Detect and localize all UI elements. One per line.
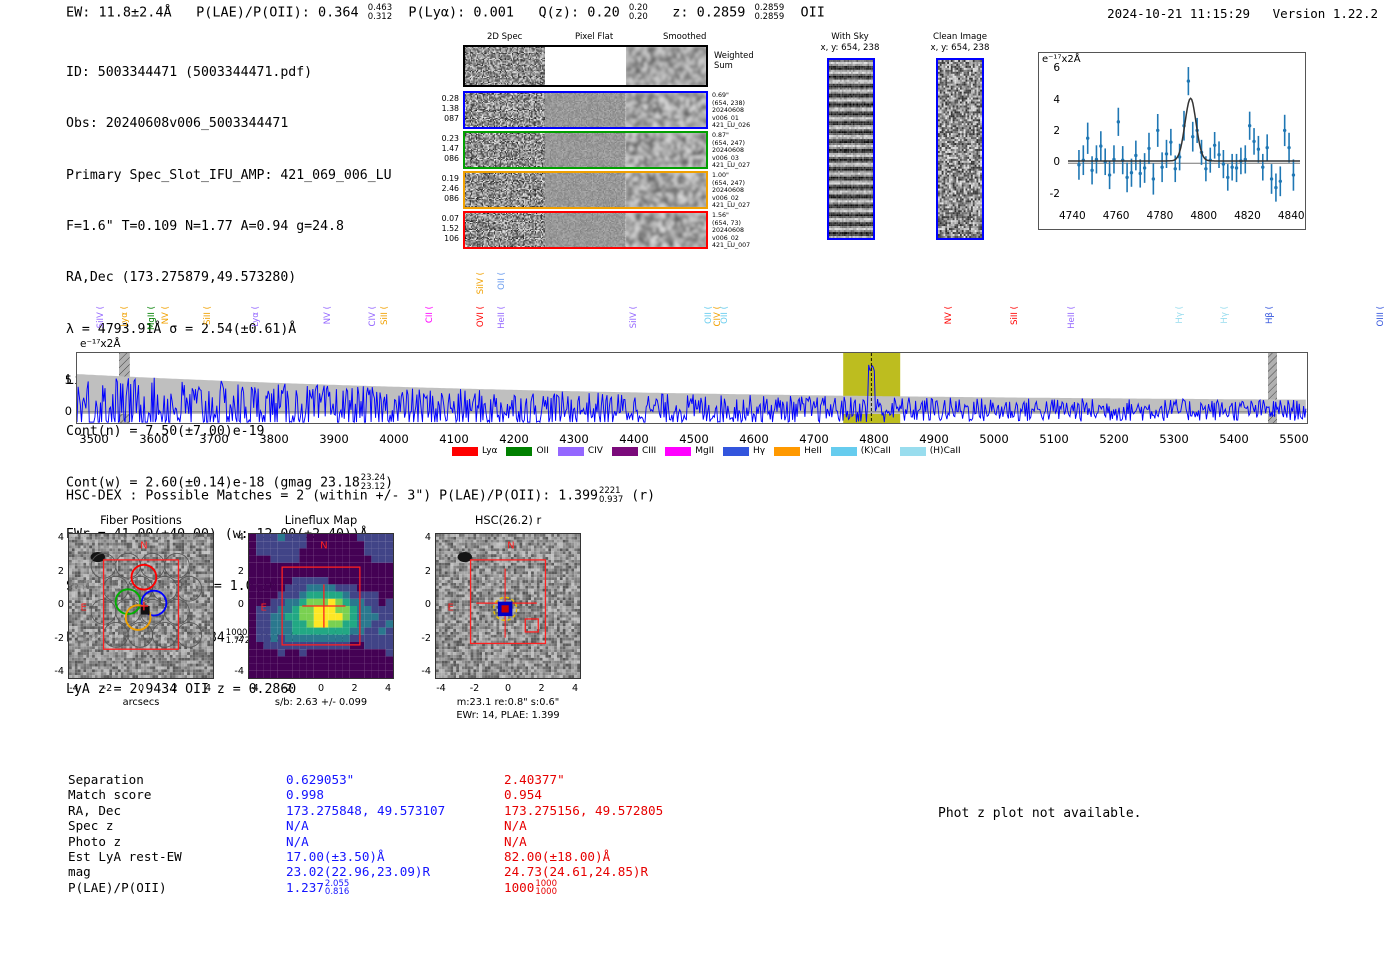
header-plya: P(Lyα): 0.001 [408,5,514,21]
cutout-caption2: EWr: 14, PLAE: 1.399 [403,710,613,721]
cutout-x-tick: -2 [94,683,122,694]
row-label: Est LyA rest-EW [68,849,286,864]
info-primary-spec: Primary Spec_Slot_IFU_AMP: 421_069_006_L… [66,167,393,184]
main-x-tick: 3700 [186,432,242,446]
emission-line-label: Lyα ( [251,306,261,327]
header-plae-label: P(LAE)/P(OII): 0.364 [196,5,359,21]
main-spectrum-plot: e⁻¹⁷x2Å 05 [76,352,1308,424]
weighted-sum-smoothed [626,47,706,85]
main-x-tick: 4600 [726,432,782,446]
cutout-x-tick: 0 [307,683,335,694]
hsc-dex-plae-frac: 22210.937 [599,487,623,504]
flat-image [545,213,625,247]
emission-line-label: Hβ ( [1265,306,1275,324]
legend-entry: CIV [558,446,603,456]
spec2d-row-stats: 0.192.46086 [425,174,459,203]
legend-swatch [612,447,638,456]
main-x-tick: 4800 [846,432,902,446]
header-plae-frac: 0.4630.312 [368,4,392,21]
match-table: Separation0.629053"2.40377"Match score0.… [68,772,784,897]
cutout-y-tick: 2 [42,566,64,577]
zoom-x-tick: 4740 [1050,210,1094,222]
main-plot-units: e⁻¹⁷x2Å [80,338,121,350]
legend-swatch [723,447,749,456]
info-id: ID: 5003344471 (5003344471.pdf) [66,64,393,81]
row-value-blue: N/A [286,834,504,849]
cutout-title: HSC(26.2) r [425,513,591,527]
row-label: mag [68,864,286,879]
info-wavelength-sigma: λ = 4793.91Å σ = 2.54(±0.61)Å [66,321,393,338]
spec2d-cell-pixelflat [545,93,625,127]
header-z-frac: 0.28590.2859 [754,4,784,21]
header-z: z: 0.2859 [672,5,745,21]
cutout-y-tick: -4 [222,666,244,677]
spec2d-column-titles: 2D Spec Pixel Flat Smoothed [463,32,763,44]
spec2d-row-stats: 0.281.38087 [425,94,459,123]
cutout-y-tick: -2 [222,633,244,644]
row-label: P(LAE)/P(OII) [68,880,286,897]
legend-swatch [831,447,857,456]
spec2d-title-smoothed: Smoothed [663,32,706,42]
cutout-canvas: NE [249,534,393,678]
row-value-blue: 23.02(22.96,23.09)R [286,864,504,879]
cutout-x-tick: 4 [194,683,222,694]
cutout-image-2: NE [435,533,581,679]
spec2d-row-meta: 1.56"(654, 73)20240608v006_02421_LU_007 [712,212,768,250]
main-x-tick: 4300 [546,432,602,446]
emission-line-label: CII ( [425,306,435,323]
spec2d-cell-2dspec [465,213,545,247]
spec2d-title-2dspec: 2D Spec [487,32,522,42]
main-y-tick: 5 [54,373,72,387]
legend-entry: MgII [665,446,714,456]
cutout-title: Lineflux Map [238,513,404,527]
cutout-y-tick: -2 [42,633,64,644]
table-row: mag23.02(22.96,23.09)R24.73(24.61,24.85)… [68,864,784,879]
clean-image [936,58,984,240]
legend-swatch [506,447,532,456]
legend-entry: (H)CaII [900,446,961,456]
row-label: Spec z [68,818,286,833]
cutout-x-tick: 4 [374,683,402,694]
spec2d-cell-pixelflat [545,173,625,207]
legend-entry: Hγ [723,446,765,456]
zoom-x-tick: 4840 [1269,210,1313,222]
spec2d-cell-smoothed [626,173,706,207]
zoom-x-tick: 4820 [1225,210,1269,222]
main-plot-frame [76,352,1308,424]
emission-line-label: MgII ( [147,306,157,330]
emission-line-label: OII ( [720,306,730,324]
row-value-red: 173.275156, 49.572805 [504,803,784,818]
emission-line-label: NV ( [323,306,333,324]
cutout-y-tick: 4 [42,532,64,543]
header-classification: OII [801,5,825,21]
row-value-red: 0.954 [504,787,784,802]
main-x-tick: 5400 [1206,432,1262,446]
spec2d-row-meta: 1.00"(654, 247)20240608v006_02421_LU_027 [712,172,768,210]
cutout-y-tick: -4 [409,666,431,677]
main-x-tick: 5300 [1146,432,1202,446]
spec2d-row-stats: 0.231.47086 [425,134,459,163]
cutout-y-tick: 2 [222,566,244,577]
main-x-tick: 4700 [786,432,842,446]
legend-label: MgII [695,446,714,456]
with-sky-image [827,58,875,240]
cutout-caption: m:23.1 re:0.8" s:0.6" [403,697,613,708]
row-value-blue: 17.00(±3.50)Å [286,849,504,864]
main-x-tick: 4400 [606,432,662,446]
row-value-red: 100010001000 [504,880,784,897]
spec2d-cell-smoothed [626,213,706,247]
main-x-tick: 4200 [486,432,542,446]
cutout-y-tick: 0 [409,599,431,610]
cutout-x-tick: -4 [240,683,268,694]
noise-image [465,133,545,167]
flat-image [545,93,625,127]
header-qz: Q(z): 0.20 [538,5,619,21]
legend-label: Lyα [482,446,497,456]
row-value-red: 2.40377" [504,772,784,787]
clean-noise [938,60,982,238]
cutout-x-tick: -4 [427,683,455,694]
spec2d-title-pixelflat: Pixel Flat [575,32,613,42]
legend-swatch [665,447,691,456]
zoom-x-tick: 4780 [1138,210,1182,222]
emission-line-label: NV ( [161,306,171,324]
main-x-tick: 4000 [366,432,422,446]
smoothed-image [626,173,706,207]
noise-image [465,93,545,127]
spec2d-cell-2dspec [465,93,545,127]
legend-swatch [558,447,584,456]
noise-image [465,47,545,85]
row-label: Photo z [68,834,286,849]
legend-entry: HeII [774,446,822,456]
main-spectrum-canvas [77,353,1307,423]
emission-line-label: Hγ ( [1175,306,1185,324]
main-x-tick: 5500 [1266,432,1322,446]
cutout-y-tick: 4 [409,532,431,543]
cutout-y-tick: 2 [409,566,431,577]
emission-line-label: NV ( [944,306,954,324]
cutout-y-tick: -4 [42,666,64,677]
emission-line-label: HeII ( [1067,306,1077,329]
spec2d-cell-pixelflat [545,133,625,167]
cutout-x-tick: 2 [161,683,189,694]
spec2d-cell-smoothed [626,93,706,127]
legend-label: (H)CaII [930,446,961,456]
cutout-x-tick: -4 [60,683,88,694]
cutout-x-tick: 0 [494,683,522,694]
main-x-tick: 4100 [426,432,482,446]
row-value-blue: 1.2372.0550.816 [286,880,504,897]
emission-line-label: SiIV ( [629,306,639,328]
main-y-tick: 0 [54,404,72,418]
row-value-blue: 0.998 [286,787,504,802]
legend-entry: (K)CaII [831,446,891,456]
weighted-sum-2dspec [465,47,545,85]
sky-striped-noise [829,60,873,238]
flat-image [545,173,625,207]
with-sky-title: With Sky x, y: 654, 238 [802,32,898,54]
legend-label: (K)CaII [861,446,891,456]
weighted-sum-pixelflat [545,47,625,85]
photz-note: Phot z plot not available. [938,806,1142,821]
zoom-x-tick: 4760 [1094,210,1138,222]
spec2d-row-stats: 0.071.52106 [425,214,459,243]
main-x-tick: 3900 [306,432,362,446]
emission-line-label: Hγ ( [1220,306,1230,324]
legend-swatch [900,447,926,456]
row-label: Separation [68,772,286,787]
main-x-tick: 5200 [1086,432,1142,446]
zoom-x-tick: 4800 [1182,210,1226,222]
emission-line-label: HeII ( [497,306,507,329]
cutout-y-tick: 4 [222,532,244,543]
legend-entry: OII [506,446,548,456]
smoothed-image [626,133,706,167]
header-datetime-version: 2024-10-21 11:15:29 Version 1.22.2 [1107,6,1378,21]
spec2d-row [463,211,708,249]
row-value-red: N/A [504,818,784,833]
legend-label: Hγ [753,446,765,456]
cutout-y-tick: 0 [222,599,244,610]
main-x-tick: 3600 [126,432,182,446]
main-x-tick: 4900 [906,432,962,446]
row-value-red: N/A [504,834,784,849]
table-row: RA, Dec173.275848, 49.573107173.275156, … [68,803,784,818]
header-datetime: 2024-10-21 11:15:29 [1107,6,1250,21]
zoom-spectrum-canvas [1038,52,1306,230]
main-x-tick: 5100 [1026,432,1082,446]
clean-image-title: Clean Image x, y: 654, 238 [908,32,1012,54]
zoom-y-tick: 0 [1036,156,1060,168]
noise-image [465,173,545,207]
cutout-caption: arcsecs [36,697,246,708]
cutout-image-1: NE [248,533,394,679]
emission-line-label: OVI ( [476,306,486,327]
spec2d-cell-2dspec [465,173,545,207]
row-value-blue: N/A [286,818,504,833]
spec2d-row [463,171,708,209]
main-x-tick: 3800 [246,432,302,446]
cutout-canvas: NE [69,534,213,678]
cutout-x-tick: 0 [127,683,155,694]
info-seeing-params: F=1.6" T=0.109 N=1.77 A=0.94 g=24.8 [66,218,393,235]
legend-label: OII [536,446,548,456]
spec2d-row-meta: 0.87"(654, 247)20240608v006_03421_LU_027 [712,132,768,170]
main-spectrum-legend: LyαOIICIVCIIIMgIIHγHeII(K)CaII(H)CaII [452,446,961,456]
row-value-red: 24.73(24.61,24.85)R [504,864,784,879]
zoom-y-tick: 2 [1036,125,1060,137]
table-row: P(LAE)/P(OII)1.2372.0550.816100010001000 [68,880,784,897]
emission-line-label: SiII ( [1010,306,1020,325]
emission-line-label: SiIV ( [476,272,486,294]
emission-line-label: CIV ( [368,306,378,327]
hsc-dex-header: HSC-DEX : Possible Matches = 2 (within +… [66,487,655,504]
spec2d-row [463,131,708,169]
header-summary: EW: 11.8±2.4Å P(LAE)/P(OII): 0.364 0.463… [66,4,825,21]
cutout-x-tick: 4 [561,683,589,694]
zoom-y-tick: -2 [1036,188,1060,200]
smoothed-image [626,213,706,247]
table-row: Est LyA rest-EW17.00(±3.50)Å82.00(±18.00… [68,849,784,864]
cutout-y-tick: 0 [42,599,64,610]
flat-image [545,133,625,167]
header-version: Version 1.22.2 [1273,6,1378,21]
legend-swatch [452,447,478,456]
emission-line-label: OII ( [497,272,507,290]
header-ew: EW: 11.8±2.4Å [66,5,172,21]
table-row: Spec zN/AN/A [68,818,784,833]
emission-line-label: SiII ( [380,306,390,325]
cutout-canvas: NE [436,534,580,678]
info-radec: RA,Dec (173.275879,49.573280) [66,269,393,286]
cutout-image-0: NE [68,533,214,679]
cutout-x-tick: 2 [528,683,556,694]
legend-label: CIII [642,446,656,456]
cutout-x-tick: -2 [461,683,489,694]
cutout-y-tick: -2 [409,633,431,644]
weighted-sum-label: WeightedSum [714,50,754,70]
cutout-title: Fiber Positions [58,513,224,527]
main-x-tick: 5000 [966,432,1022,446]
spec2d-weighted-sum-row [463,45,708,87]
table-row: Separation0.629053"2.40377" [68,772,784,787]
spec2d-cell-2dspec [465,133,545,167]
spec2d-row [463,91,708,129]
spec2d-cell-smoothed [626,133,706,167]
legend-entry: Lyα [452,446,497,456]
zoom-y-tick: 6 [1036,62,1060,74]
smoothed-image [626,47,706,85]
cutout-x-tick: -2 [274,683,302,694]
noise-image [465,213,545,247]
cutout-caption: s/b: 2.63 +/- 0.099 [216,697,426,708]
info-obs: Obs: 20240608v006_5003344471 [66,115,393,132]
legend-entry: CIII [612,446,656,456]
main-x-tick: 3500 [66,432,122,446]
row-label: Match score [68,787,286,802]
spec2d-panel-group: 2D Spec Pixel Flat Smoothed [463,32,763,44]
emission-line-label: SiIV ( [96,306,106,328]
zoom-y-tick: 4 [1036,94,1060,106]
legend-label: CIV [588,446,603,456]
legend-label: HeII [804,446,822,456]
header-qz-frac: 0.200.20 [629,4,648,21]
table-row: Photo zN/AN/A [68,834,784,849]
emission-line-label: OIII ( [1376,306,1386,326]
row-value-blue: 0.629053" [286,772,504,787]
smoothed-image [626,93,706,127]
main-x-tick: 4500 [666,432,722,446]
row-value-red: 82.00(±18.00)Å [504,849,784,864]
row-label: RA, Dec [68,803,286,818]
legend-swatch [774,447,800,456]
zoom-spectrum-plot: e⁻¹⁷x2Å -20246 474047604780480048204840 [1038,52,1306,230]
spec2d-row-meta: 0.69"(654, 238)20240608v006_01421_LU_026 [712,92,768,130]
table-row: Match score0.9980.954 [68,787,784,802]
cutout-x-tick: 2 [341,683,369,694]
spec2d-cell-pixelflat [545,213,625,247]
emission-line-label: SiII ( [203,306,213,325]
emission-line-label: Lyα ( [120,306,130,327]
row-value-blue: 173.275848, 49.573107 [286,803,504,818]
